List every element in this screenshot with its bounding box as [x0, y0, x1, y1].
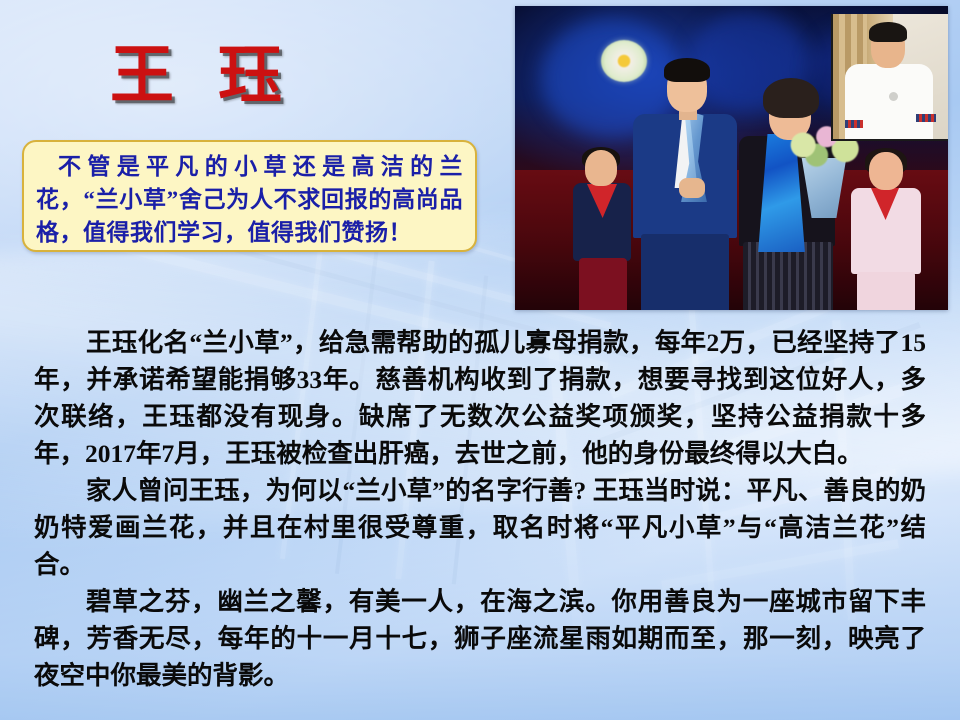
- inset-white-tshirt: [845, 64, 933, 141]
- body-paragraph-1: 王珏化名“兰小草”，给急需帮助的孤儿寡母捐款，每年2万，已经坚持了15年，并承诺…: [34, 324, 926, 472]
- man-hand: [679, 178, 705, 198]
- figure-girl: [851, 152, 927, 310]
- inset-hair: [869, 22, 907, 42]
- page-title: 王 珏: [110, 24, 296, 116]
- ceremony-photo: [515, 6, 948, 310]
- boy-face: [585, 150, 617, 186]
- inset-portrait-photo: [831, 14, 948, 141]
- figure-man-with-trophy: [633, 58, 741, 310]
- woman-hair: [763, 78, 819, 118]
- boy-trousers: [579, 258, 627, 310]
- quote-callout-box: 不管是平凡的小草还是高洁的兰花，“兰小草”舍己为人不求回报的高尚品格，值得我们学…: [22, 140, 477, 252]
- body-text: 王珏化名“兰小草”，给急需帮助的孤儿寡母捐款，每年2万，已经坚持了15年，并承诺…: [34, 324, 926, 694]
- inset-sleeve-stripe: [916, 114, 936, 122]
- man-hair: [664, 58, 710, 82]
- inset-sleeve-stripe: [845, 120, 863, 128]
- woman-skirt: [743, 242, 833, 310]
- body-paragraph-2: 家人曾问王珏，为何以“兰小草”的名字行善? 王珏当时说：平凡、善良的奶奶特爱画兰…: [34, 472, 926, 583]
- girl-skirt: [857, 272, 915, 310]
- girl-face: [869, 152, 903, 190]
- slide-canvas: 王 珏 不管是平凡的小草还是高洁的兰花，“兰小草”舍己为人不求回报的高尚品格，值…: [0, 0, 960, 720]
- man-trousers: [641, 234, 729, 310]
- quote-callout-text: 不管是平凡的小草还是高洁的兰花，“兰小草”舍己为人不求回报的高尚品格，值得我们学…: [36, 150, 463, 249]
- body-paragraph-3: 碧草之芬，幽兰之馨，有美一人，在海之滨。你用善良为一座城市留下丰碑，芳香无尽，每…: [34, 583, 926, 694]
- inset-shirt-logo: [889, 92, 898, 101]
- figure-boy: [573, 150, 639, 310]
